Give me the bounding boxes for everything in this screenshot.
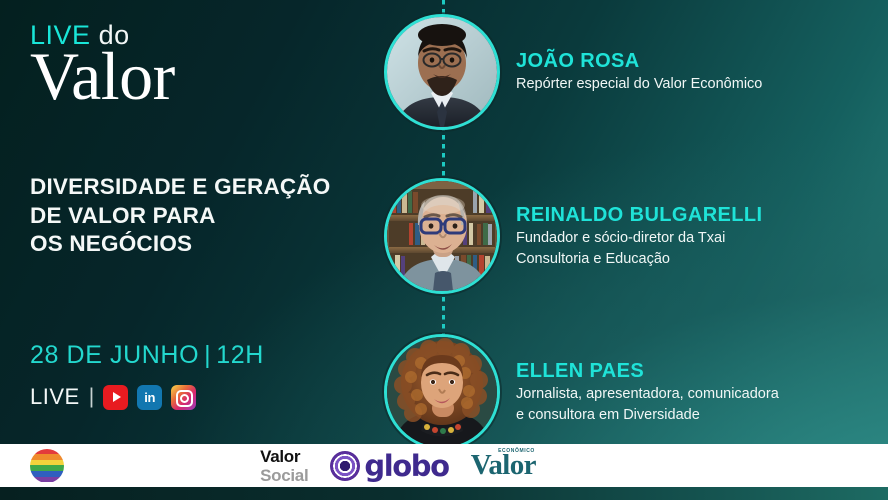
valor-social-word-2: Social	[260, 467, 308, 484]
globo-logo-icon	[330, 451, 360, 481]
avatar	[384, 334, 500, 450]
portrait-reinaldo-bulgarelli-image	[387, 181, 497, 291]
globo-logo: globo	[330, 449, 448, 483]
valor-social-logo: Valor Social	[260, 448, 308, 484]
live-divider: |	[89, 385, 94, 409]
youtube-icon[interactable]	[103, 385, 128, 410]
speaker-card-ellen-paes: ELLEN PAES Jornalista, apresentadora, co…	[384, 334, 779, 450]
portrait-ellen-paes-image	[387, 337, 497, 447]
valor-economico-tagline: ECONÔMICO	[498, 448, 535, 454]
brand-lockup: LIVE do Valor	[30, 22, 380, 108]
speaker-text: REINALDO BULGARELLI Fundador e sócio-dir…	[516, 204, 762, 268]
headline-line-3: OS NEGÓCIOS	[30, 230, 370, 259]
event-time: 12H	[216, 341, 264, 369]
page-title: DIVERSIDADE E GERAÇÃO DE VALOR PARA OS N…	[30, 173, 370, 259]
headline-line-2: DE VALOR PARA	[30, 202, 370, 231]
speaker-role-line-1: Jornalista, apresentadora, comunicadora	[516, 385, 779, 404]
live-event-promo-banner: LIVE do Valor DIVERSIDADE E GERAÇÃO DE V…	[0, 0, 888, 500]
avatar	[384, 178, 500, 294]
valor-economico-logo: Valor ECONÔMICO	[471, 449, 536, 482]
speaker-name: ELLEN PAES	[516, 360, 779, 383]
instagram-icon[interactable]	[171, 385, 196, 410]
speaker-name: JOÃO ROSA	[516, 50, 762, 73]
globo-wordmark: globo	[364, 449, 448, 483]
headline-line-1: DIVERSIDADE E GERAÇÃO	[30, 173, 370, 202]
live-label: LIVE	[30, 384, 80, 410]
pride-flag-circle-icon	[30, 449, 64, 483]
avatar	[384, 14, 500, 130]
datetime-separator: |	[204, 341, 211, 369]
bottom-accent-bar	[0, 487, 888, 500]
speaker-name: REINALDO BULGARELLI	[516, 204, 762, 227]
speaker-text: JOÃO ROSA Repórter especial do Valor Eco…	[516, 50, 762, 94]
event-datetime: 28 DE JUNHO|12H	[30, 341, 264, 370]
speaker-card-joao-rosa: JOÃO ROSA Repórter especial do Valor Eco…	[384, 14, 762, 130]
brand-wordmark: Valor	[30, 45, 380, 108]
speaker-text: ELLEN PAES Jornalista, apresentadora, co…	[516, 360, 779, 424]
valor-social-word-1: Valor	[260, 447, 300, 466]
speaker-role-line-2: e consultora em Diversidade	[516, 406, 779, 425]
partner-logos: Valor Social globo Valor ECONÔMICO	[260, 448, 536, 484]
footer-logo-bar: Valor Social globo Valor ECONÔMICO	[0, 444, 888, 487]
speaker-role-line-2: Consultoria e Educação	[516, 250, 762, 269]
speaker-role-line-1: Fundador e sócio-diretor da Txai	[516, 229, 762, 248]
speaker-card-reinaldo-bulgarelli: REINALDO BULGARELLI Fundador e sócio-dir…	[384, 178, 762, 294]
linkedin-icon[interactable]: in	[137, 385, 162, 410]
live-platforms-row: LIVE | in	[30, 384, 196, 410]
event-date: 28 DE JUNHO	[30, 341, 199, 369]
portrait-joao-rosa-image	[387, 17, 497, 127]
speaker-role-line-1: Repórter especial do Valor Econômico	[516, 75, 762, 94]
